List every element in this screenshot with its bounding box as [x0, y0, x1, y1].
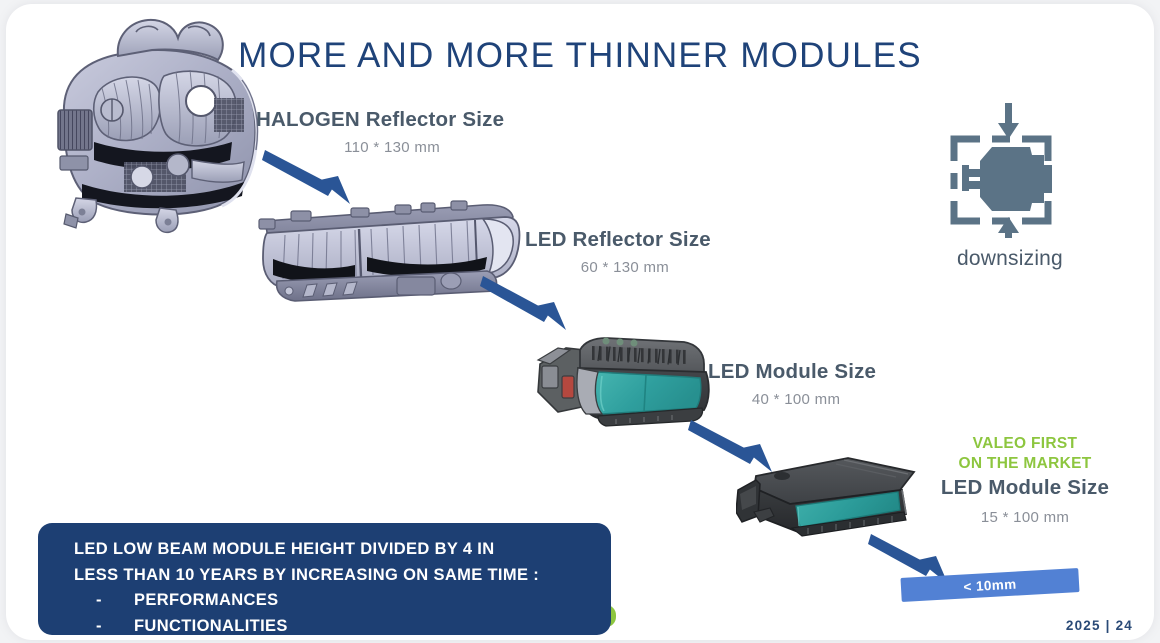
banner-bullet-item: - FUNCTIONALITIES: [74, 614, 611, 640]
slide-footer: 2025 | 24: [1066, 618, 1133, 633]
banner-bullet-list: - PERFORMANCES - FUNCTIONALITIES: [74, 588, 611, 639]
summary-banner: LED LOW BEAM MODULE HEIGHT DIVIDED BY 4 …: [38, 523, 611, 635]
valeo-first-line2: ON THE MARKET: [930, 454, 1120, 474]
bullet-label: FUNCTIONALITIES: [134, 614, 288, 640]
bullet-marker: -: [74, 588, 134, 614]
led-reflector-title: LED Reflector Size: [525, 228, 711, 252]
bullet-marker: -: [74, 614, 134, 640]
led-module-image: [536, 320, 721, 430]
led-module-thin-title: LED Module Size: [930, 476, 1120, 500]
banner-line-2: LESS THAN 10 YEARS BY INCREASING ON SAME…: [74, 563, 611, 589]
banner-line-1: LED LOW BEAM MODULE HEIGHT DIVIDED BY 4 …: [74, 537, 611, 563]
led-module-title: LED Module Size: [708, 360, 876, 384]
slide-canvas: MORE AND MORE THINNER MODULES: [0, 0, 1160, 643]
led-module-thin-label: VALEO FIRST ON THE MARKET LED Module Siz…: [930, 434, 1120, 526]
halogen-reflector-title: HALOGEN Reflector Size: [256, 108, 504, 132]
led-module-size: 40 * 100 mm: [716, 391, 876, 408]
bullet-label: PERFORMANCES: [134, 588, 278, 614]
downsizing-compression-icon: [936, 103, 1084, 238]
valeo-first-line1: VALEO FIRST: [930, 434, 1120, 454]
led-module-label: LED Module Size 40 * 100 mm: [708, 360, 876, 408]
halogen-reflector-image: [36, 14, 281, 239]
downsizing-caption: downsizing: [935, 247, 1085, 271]
led-reflector-label: LED Reflector Size 60 * 130 mm: [525, 228, 711, 276]
banner-bullet-item: - PERFORMANCES: [74, 588, 611, 614]
mm-bar-label: < 10mm: [963, 576, 1017, 594]
downsizing-block: downsizing: [935, 103, 1085, 271]
led-module-thin-size: 15 * 100 mm: [930, 509, 1120, 526]
